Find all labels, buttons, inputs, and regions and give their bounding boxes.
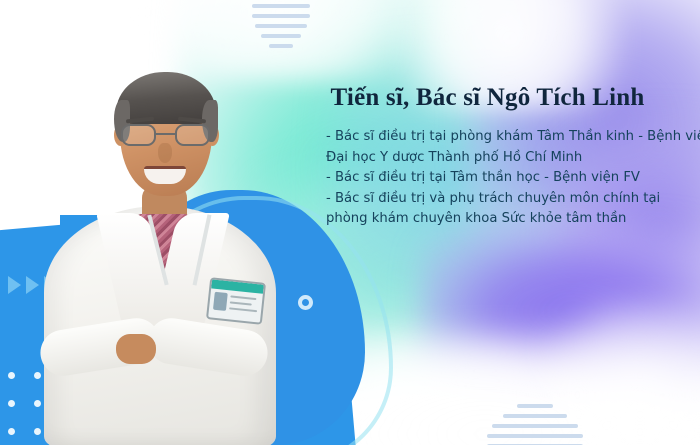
- decorative-ring-icon: [298, 295, 313, 310]
- fan-stripe: [252, 14, 310, 18]
- doctor-name-title: Tiến sĩ, Bác sĩ Ngô Tích Linh: [280, 84, 695, 112]
- glasses-lens-right: [175, 124, 210, 146]
- fan-stripe: [503, 414, 567, 418]
- doctor-hair: [116, 72, 216, 124]
- bio-line: phòng khám chuyên khoa Sức khỏe tâm thần: [326, 209, 688, 230]
- id-badge: [206, 277, 266, 325]
- grid-dot: [8, 400, 15, 407]
- id-badge-text-line: [230, 295, 256, 300]
- fan-stripe: [487, 434, 583, 438]
- doctor-hand: [116, 334, 156, 364]
- fan-stripe: [492, 424, 578, 428]
- fan-stripe: [517, 404, 553, 408]
- bio-line: - Bác sĩ điều trị tại Tâm thần học - Bện…: [326, 168, 688, 189]
- bio-line: - Bác sĩ điều trị tại phòng khám Tâm Thầ…: [326, 127, 688, 148]
- id-badge-photo: [213, 292, 228, 311]
- fan-stripe: [252, 4, 310, 8]
- fan-stripe: [255, 24, 307, 28]
- bio-line: Đại học Y dược Thành phố Hồ Chí Minh: [326, 148, 688, 169]
- doctor-profile-banner: Tiến sĩ, Bác sĩ Ngô Tích Linh - Bác sĩ đ…: [0, 0, 700, 445]
- grid-dot: [8, 372, 15, 379]
- doctor-photo: [38, 38, 283, 445]
- arrow-right-icon: [8, 276, 21, 294]
- id-badge-text-line: [229, 307, 257, 312]
- grid-dot: [8, 428, 15, 435]
- glasses-bridge: [156, 133, 175, 135]
- glasses-lens-left: [121, 124, 156, 146]
- id-badge-text-line: [230, 301, 252, 305]
- bio-line: - Bác sĩ điều trị và phụ trách chuyên mô…: [326, 189, 688, 210]
- doctor-bio-list: - Bác sĩ điều trị tại phòng khám Tâm Thầ…: [326, 127, 688, 230]
- fan-stripes-bottom: [487, 398, 583, 445]
- doctor-nose: [158, 143, 172, 163]
